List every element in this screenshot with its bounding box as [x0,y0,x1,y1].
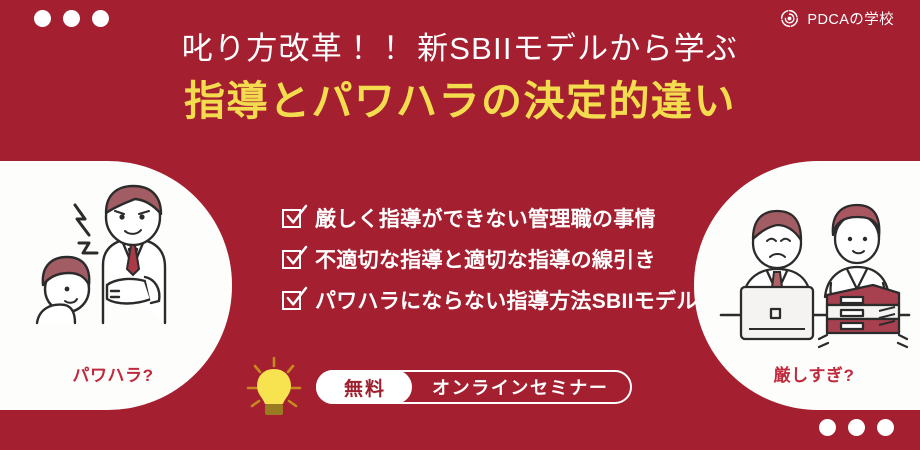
seminar-promo-banner: PDCAの学校 叱り方改革！！ 新SBIIモデルから学ぶ 指導とパワハラの決定的… [0,0,920,450]
dot-icon [34,10,51,27]
right-illustration-panel: 厳しすぎ? [694,161,920,410]
stressed-worker-at-laptop-and-colleague-with-files-illustration [715,173,915,363]
right-panel-caption: 厳しすぎ? [694,361,920,386]
cta-label: オンラインセミナー [412,374,608,400]
dot-icon [92,10,109,27]
brand-name: PDCAの学校 [807,8,894,29]
left-illustration-panel: パワハラ? [0,161,232,410]
pdca-circular-swirl-logo-icon [779,8,800,29]
checklist-item: 不適切な指導と適切な指導の線引き [282,244,698,274]
checklist-item: 厳しく指導ができない管理職の事情 [282,203,698,233]
checkbox-checked-icon [282,291,301,310]
checkbox-checked-icon [282,209,301,228]
angry-manager-scolding-employee-illustration [11,173,211,363]
dot-icon [63,10,80,27]
dot-icon [877,419,894,436]
left-panel-art [0,173,232,363]
banner-headline: 指導とパワハラの決定的違い [0,74,920,128]
checkbox-checked-icon [282,250,301,269]
dot-icon [848,419,865,436]
right-panel-art [694,173,920,363]
banner-subtitle: 叱り方改革！！ 新SBIIモデルから学ぶ [0,28,920,70]
checklist-item-label: 不適切な指導と適切な指導の線引き [315,244,656,274]
checklist-item-label: 厳しく指導ができない管理職の事情 [315,203,656,233]
header-text-block: 叱り方改革！！ 新SBIIモデルから学ぶ 指導とパワハラの決定的違い [0,28,920,128]
checklist-item: パワハラにならない指導方法SBIIモデル [282,285,698,315]
left-panel-caption: パワハラ? [0,361,232,386]
cta-pill[interactable]: 無料 オンラインセミナー [316,370,632,404]
decorative-dots-bottom-right [819,419,894,436]
feature-checklist: 厳しく指導ができない管理職の事情 不適切な指導と適切な指導の線引き パワハラにな… [282,203,698,315]
cta-area: 無料 オンラインセミナー [246,356,632,418]
brand-lockup[interactable]: PDCAの学校 [779,8,894,29]
checklist-item-label: パワハラにならない指導方法SBIIモデル [315,285,698,315]
free-badge: 無料 [316,370,412,404]
decorative-dots-top-left [34,10,109,27]
dot-icon [819,419,836,436]
lightbulb-idea-icon [246,356,302,418]
